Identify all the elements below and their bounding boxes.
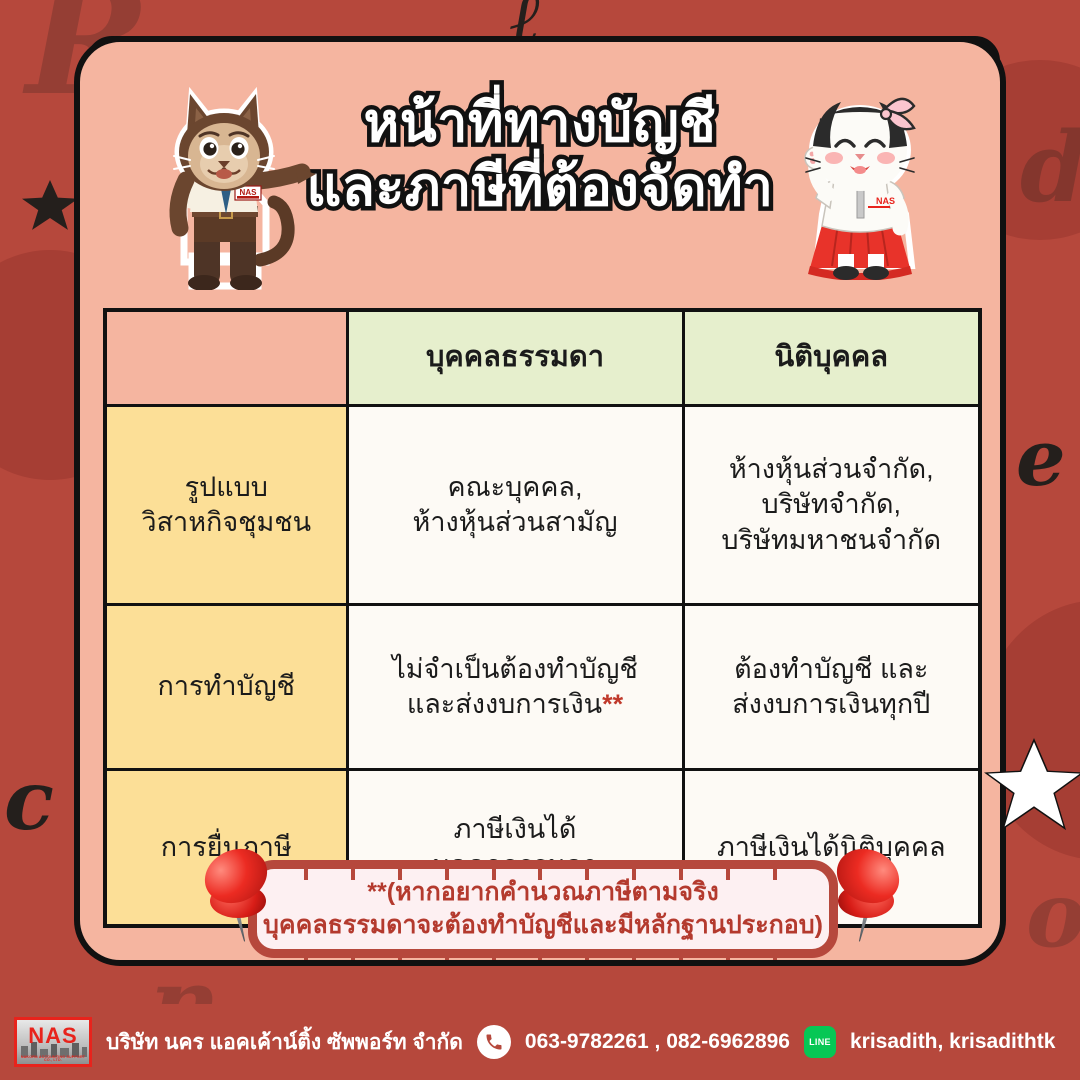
- mascot-cat-girl: NAS: [772, 58, 948, 280]
- cell-personal-bookkeeping: ไม่จำเป็นต้องทำบัญชี และส่งงบการเงิน**: [347, 605, 683, 770]
- pushpin-left-icon: [196, 846, 282, 942]
- footnote-text: **(หากอยากคำนวณภาษีตามจริง บุคคลธรรมดาจะ…: [263, 876, 823, 942]
- doodle-script-c: c: [4, 760, 54, 842]
- table-row-business-form: รูปแบบ วิสาหกิจชุมชน คณะบุคคล, ห้างหุ้นส…: [105, 406, 980, 605]
- column-header-juristic: นิติบุคคล: [683, 310, 980, 406]
- cell-line-2: บริษัทจำกัด,: [693, 487, 971, 522]
- line-ids: krisadith, krisadithtk: [850, 1030, 1055, 1054]
- company-name: บริษัท นคร แอคเค้าน์ติ้ง ซัพพอร์ท จำกัด: [106, 1026, 463, 1059]
- cell-line-1: ต้องทำบัญชี และ: [693, 652, 971, 687]
- cell-line-1: ไม่จำเป็นต้องทำบัญชี: [357, 652, 674, 687]
- column-header-personal: บุคคลธรรมดา: [347, 310, 683, 406]
- title-line-1: หน้าที่ทางบัญชี: [270, 92, 810, 156]
- cell-line-2: ส่งงบการเงินทุกปี: [693, 687, 971, 722]
- line-icon: LINE: [804, 1026, 836, 1058]
- table-row-bookkeeping: การทำบัญชี ไม่จำเป็นต้องทำบัญชี และส่งงบ…: [105, 605, 980, 770]
- title-line-2: และภาษีที่ต้องจัดทำ: [270, 156, 810, 220]
- cell-juristic-bookkeeping: ต้องทำบัญชี และ ส่งงบการเงินทุกปี: [683, 605, 980, 770]
- cell-line-1: ห้างหุ้นส่วนจำกัด,: [693, 452, 971, 487]
- table-header-row: บุคคลธรรมดา นิติบุคคล: [105, 310, 980, 406]
- cell-juristic-business-form: ห้างหุ้นส่วนจำกัด, บริษัทจำกัด, บริษัทมห…: [683, 406, 980, 605]
- cell-line-1: ภาษีเงินได้: [357, 812, 674, 847]
- footnote-box: **(หากอยากคำนวณภาษีตามจริง บุคคลธรรมดาจะ…: [248, 860, 838, 958]
- svg-text:NAS: NAS: [240, 188, 258, 197]
- cell-line-2-text: และส่งงบการเงิน: [407, 689, 602, 719]
- comparison-table: บุคคลธรรมดา นิติบุคคล รูปแบบ วิสาหกิจชุม…: [103, 308, 982, 928]
- doodle-script-d: d: [1020, 120, 1080, 216]
- line-icon-label: LINE: [809, 1037, 831, 1047]
- pushpin-right-icon: [822, 846, 908, 942]
- black-star-icon: [22, 180, 78, 232]
- doodle-script-o: o: [1026, 870, 1080, 960]
- logo-text: NAS: [17, 1025, 89, 1047]
- cell-line-1: คณะบุคคล,: [357, 470, 674, 505]
- cell-personal-business-form: คณะบุคคล, ห้างหุ้นส่วนสามัญ: [347, 406, 683, 605]
- svg-text:NAS: NAS: [876, 196, 895, 206]
- footer-bar: NAS NAKORN ACCOUNTING SUPPORT CO., LTD. …: [0, 1004, 1080, 1080]
- footnote-line-1: **(หากอยากคำนวณภาษีตามจริง: [263, 876, 823, 909]
- footnote-asterisk: **: [602, 689, 623, 719]
- row-label-line-2: วิสาหกิจชุมชน: [115, 505, 338, 540]
- page-title: หน้าที่ทางบัญชี และภาษีที่ต้องจัดทำ: [270, 92, 810, 219]
- comparison-table-wrapper: บุคคลธรรมดา นิติบุคคล รูปแบบ วิสาหกิจชุม…: [103, 308, 978, 928]
- nas-logo: NAS NAKORN ACCOUNTING SUPPORT CO., LTD.: [14, 1017, 92, 1067]
- logo-subtext: NAKORN ACCOUNTING SUPPORT CO., LTD.: [17, 1056, 89, 1063]
- mascot-cat-businessman: NAS: [136, 60, 336, 290]
- doodle-script-e: e: [1016, 420, 1066, 498]
- phone-icon: [477, 1025, 511, 1059]
- row-label-line-1: รูปแบบ: [115, 470, 338, 505]
- cell-line-2: และส่งงบการเงิน**: [357, 687, 674, 722]
- footnote-line-2: บุคคลธรรมดาจะต้องทำบัญชีและมีหลักฐานประก…: [263, 909, 823, 942]
- table-corner-cell: [105, 310, 347, 406]
- row-label-business-form: รูปแบบ วิสาหกิจชุมชน: [105, 406, 347, 605]
- cell-line-3: บริษัทมหาชนจำกัด: [693, 523, 971, 558]
- cell-line-2: ห้างหุ้นส่วนสามัญ: [357, 505, 674, 540]
- phone-numbers: 063-9782261 , 082-6962896: [525, 1030, 790, 1054]
- row-label-bookkeeping: การทำบัญชี: [105, 605, 347, 770]
